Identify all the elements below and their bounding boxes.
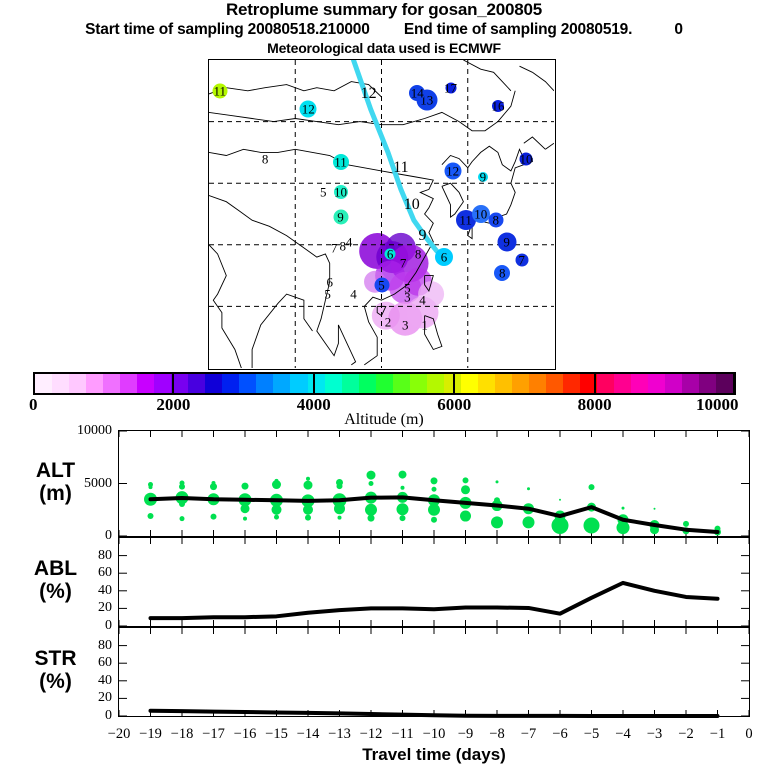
marker-day-label: 12	[302, 103, 315, 116]
coastline	[532, 72, 554, 91]
altitude-scatter-point	[461, 485, 470, 494]
marker-day-label: 11	[459, 214, 472, 227]
coastline	[520, 66, 533, 72]
trajectory-day-label: 11	[393, 160, 408, 176]
marker-day-label: 7	[331, 241, 338, 254]
marker-day-label: 8	[499, 266, 506, 279]
altitude-scatter-point	[179, 501, 185, 507]
marker-day-label: 4	[419, 294, 426, 307]
abl-panel	[118, 537, 750, 627]
altitude-scatter-point	[337, 483, 343, 489]
marker-day-label: 7	[400, 257, 407, 270]
row-label-alt: ALT(m)	[8, 459, 103, 505]
altitude-scatter-point	[148, 513, 154, 519]
altitude-scatter-point	[304, 481, 313, 490]
colorbar-swatch	[137, 374, 154, 393]
altitude-scatter-point	[368, 515, 375, 522]
title-block: Retroplume summary for gosan_200805 Star…	[0, 0, 768, 57]
marker-day-label: 6	[441, 251, 448, 264]
x-axis-tick-label: −1	[710, 726, 725, 742]
colorbar-swatch	[325, 374, 342, 393]
trajectory-day-label: 9	[418, 228, 426, 244]
marker-day-label: 8	[493, 214, 500, 227]
colorbar-swatch	[427, 374, 444, 393]
x-axis-tick-label: −19	[139, 726, 162, 742]
row-label-abl: ABL(%)	[8, 557, 103, 603]
colorbar-swatch	[665, 374, 682, 393]
colorbar-swatch	[86, 374, 103, 393]
marker-day-label: 3	[402, 318, 409, 331]
x-axis-tick-label: −11	[391, 726, 413, 742]
colorbar-swatch	[359, 374, 376, 393]
colorbar-swatch	[154, 374, 171, 393]
colorbar-swatch	[256, 374, 273, 393]
colorbar-swatch	[35, 374, 52, 393]
page-title: Retroplume summary for gosan_200805	[0, 0, 768, 20]
y-axis-tick-label: 0	[30, 709, 112, 723]
marker-day-label: 11	[214, 84, 227, 97]
colorbar-swatch	[512, 374, 529, 393]
altitude-scatter-point	[242, 483, 249, 490]
altitude-scatter-point	[334, 503, 345, 514]
altitude-scatter-point	[463, 477, 469, 483]
marker-day-label: 8	[415, 248, 422, 261]
altitude-scatter-point	[272, 505, 282, 515]
marker-day-label: 5	[320, 186, 327, 199]
trajectory-day-label: 12	[361, 86, 377, 102]
altitude-scatter-point	[338, 516, 342, 520]
x-axis-tick-label: −13	[328, 726, 351, 742]
colorbar-tick	[734, 372, 736, 395]
colorbar-swatch	[614, 374, 631, 393]
altitude-scatter-point	[367, 471, 376, 480]
altitude-scatter-point	[211, 514, 217, 520]
x-axis-tick-label: −20	[108, 726, 131, 742]
mean-abl-line	[151, 583, 718, 618]
x-axis-tick-label: −7	[521, 726, 536, 742]
marker-day-label: 17	[444, 81, 457, 94]
altitude-scatter-point	[496, 480, 499, 483]
altitude-scatter-point	[552, 517, 569, 534]
altitude-scatter-point	[589, 484, 595, 490]
row-label-primary: ABL	[8, 557, 103, 580]
altitude-scatter-point	[460, 511, 471, 522]
colorbar-swatch	[393, 374, 410, 393]
altitude-scatter-point	[683, 521, 689, 527]
x-axis-tick-label: −18	[171, 726, 194, 742]
y-axis-tick-label: 10000	[30, 424, 112, 438]
y-axis-tick-label: 0	[30, 529, 112, 543]
altitude-scatter-point	[527, 487, 530, 490]
x-axis-tick-label: −4	[615, 726, 630, 742]
altitude-scatter-point	[432, 487, 437, 492]
altitude-scatter-point	[399, 471, 407, 479]
x-axis-tick-label: −8	[489, 726, 504, 742]
colorbar-tick	[313, 372, 315, 395]
marker-day-label: 10	[519, 152, 532, 165]
marker-day-label: 6	[387, 248, 394, 261]
coastline	[463, 60, 511, 91]
colorbar-tick	[172, 372, 174, 395]
colorbar-title: Altitude (m)	[0, 411, 768, 429]
altitude-scatter-point	[369, 481, 374, 486]
y-axis-tick-label: 20	[30, 691, 112, 705]
end-time-value: 0	[674, 21, 682, 38]
colorbar-swatch	[290, 374, 307, 393]
marker-day-label: 1	[421, 318, 428, 331]
colorbar-swatch	[69, 374, 86, 393]
marker-day-label: 4	[350, 288, 357, 301]
x-axis-tick-label: −9	[458, 726, 473, 742]
colorbar-tick	[594, 372, 596, 395]
colorbar-swatch	[52, 374, 69, 393]
x-axis-tick-label: −3	[647, 726, 662, 742]
altitude-scatter-point	[491, 516, 503, 528]
marker-day-label: 4	[346, 235, 353, 248]
marker-day-label: 2	[385, 315, 392, 328]
colorbar-swatch	[699, 374, 716, 393]
colorbar-swatch	[342, 374, 359, 393]
x-axis-tick-label: −5	[584, 726, 599, 742]
row-label-primary: STR	[8, 647, 103, 670]
x-axis-tick-label: −2	[678, 726, 693, 742]
altitude-scatter-point	[212, 481, 216, 485]
colorbar-swatch	[376, 374, 393, 393]
altitude-scatter-point	[243, 517, 247, 521]
end-time-label: End time of sampling 20080519.	[404, 21, 632, 38]
altitude-scatter-point	[303, 505, 313, 515]
trajectory-day-label: 10	[404, 197, 420, 213]
alt-panel	[118, 430, 750, 537]
coastline	[545, 143, 554, 149]
altitude-scatter-point	[559, 499, 561, 501]
x-axis-tick-labels: −20−19−18−17−16−15−14−13−12−11−10−9−8−7−…	[0, 726, 768, 744]
x-axis-tick-label: −16	[234, 726, 257, 742]
retroplume-map: 1112131417168111291051097841110897866654…	[208, 59, 556, 370]
colorbar-swatch	[546, 374, 563, 393]
x-axis-tick-label: 0	[745, 726, 752, 742]
altitude-colorbar	[33, 372, 735, 395]
marker-day-label: 10	[474, 208, 487, 221]
colorbar-swatch	[716, 374, 733, 393]
colorbar-swatch	[410, 374, 427, 393]
marker-day-label: 10	[334, 186, 347, 199]
marker-day-label: 9	[337, 211, 344, 224]
colorbar-swatch	[273, 374, 290, 393]
colorbar-swatch	[103, 374, 120, 393]
start-time-label: Start time of sampling 20080518.210000	[85, 21, 369, 38]
colorbar-swatch	[648, 374, 665, 393]
row-label-unit: (m)	[8, 482, 103, 505]
marker-day-label: 3	[404, 291, 411, 304]
altitude-scatter-point	[180, 516, 185, 521]
x-axis-title: Travel time (days)	[118, 745, 750, 765]
altitude-scatter-point	[306, 477, 310, 481]
altitude-scatter-point	[365, 504, 377, 516]
marker-day-label: 11	[334, 155, 347, 168]
abl-plot-graphics	[119, 538, 749, 626]
y-axis-tick-label: 0	[30, 619, 112, 633]
altitude-scatter-point	[523, 516, 535, 528]
colorbar-swatch	[205, 374, 222, 393]
met-data-label: Meteorological data used is ECMWF	[0, 39, 768, 57]
colorbar-swatch	[682, 374, 699, 393]
altitude-scatter-point	[654, 508, 656, 510]
altitude-scatter-point	[431, 477, 438, 484]
row-label-str: STR(%)	[8, 647, 103, 693]
marker-day-label: 9	[503, 235, 510, 248]
altitude-scatter-point	[428, 504, 440, 516]
marker-day-label: 7	[518, 254, 525, 267]
x-axis-tick-label: −14	[297, 726, 320, 742]
colorbar-swatch	[597, 374, 614, 393]
coastline	[209, 245, 313, 368]
altitude-scatter-point	[397, 503, 409, 515]
marker-day-label: 12	[446, 164, 459, 177]
colorbar-swatch	[529, 374, 546, 393]
marker-day-label: 8	[262, 152, 269, 165]
marker-day-label: 14	[411, 87, 424, 100]
str-plot-graphics	[119, 628, 749, 716]
colorbar-swatch	[563, 374, 580, 393]
altitude-scatter-point	[275, 479, 279, 483]
colorbar-swatch	[222, 374, 239, 393]
x-axis-tick-label: −6	[552, 726, 567, 742]
marker-day-label: 9	[480, 171, 487, 184]
colorbar-tick	[453, 372, 455, 395]
row-label-primary: ALT	[8, 459, 103, 482]
x-axis-tick-label: −15	[265, 726, 288, 742]
str-panel	[118, 627, 750, 717]
altitude-scatter-point	[431, 517, 437, 523]
marker-day-label: 16	[491, 100, 504, 113]
marker-day-label: 5	[378, 278, 385, 291]
altitude-scatter-point	[241, 504, 250, 513]
colorbar-swatch	[631, 374, 648, 393]
x-axis-tick-label: −17	[202, 726, 225, 742]
x-axis-tick-label: −12	[360, 726, 383, 742]
altitude-scatter-point	[274, 515, 279, 520]
colorbar-swatch	[495, 374, 512, 393]
altitude-scatter-point	[584, 518, 600, 534]
colorbar-swatch	[239, 374, 256, 393]
sampling-time-line: Start time of sampling 20080518.210000 E…	[0, 20, 768, 39]
altitude-scatter-point	[401, 486, 405, 490]
coastline	[524, 137, 546, 149]
altitude-scatter-point	[305, 515, 311, 521]
altitude-scatter-point	[622, 507, 625, 510]
altitude-scatter-point	[617, 521, 630, 534]
colorbar-swatch	[478, 374, 495, 393]
x-axis-tick-label: −10	[423, 726, 446, 742]
colorbar-swatch	[461, 374, 478, 393]
colorbar-swatch	[120, 374, 137, 393]
altitude-scatter-point	[400, 515, 406, 521]
y-axis-tick-label: 20	[30, 601, 112, 615]
alt-plot-graphics	[119, 431, 749, 536]
altitude-scatter-point	[148, 482, 153, 487]
row-label-unit: (%)	[8, 580, 103, 603]
colorbar-swatch	[308, 374, 325, 393]
marker-day-label: 5	[324, 288, 331, 301]
row-label-unit: (%)	[8, 670, 103, 693]
colorbar-swatch	[188, 374, 205, 393]
altitude-scatter-point	[180, 480, 185, 485]
